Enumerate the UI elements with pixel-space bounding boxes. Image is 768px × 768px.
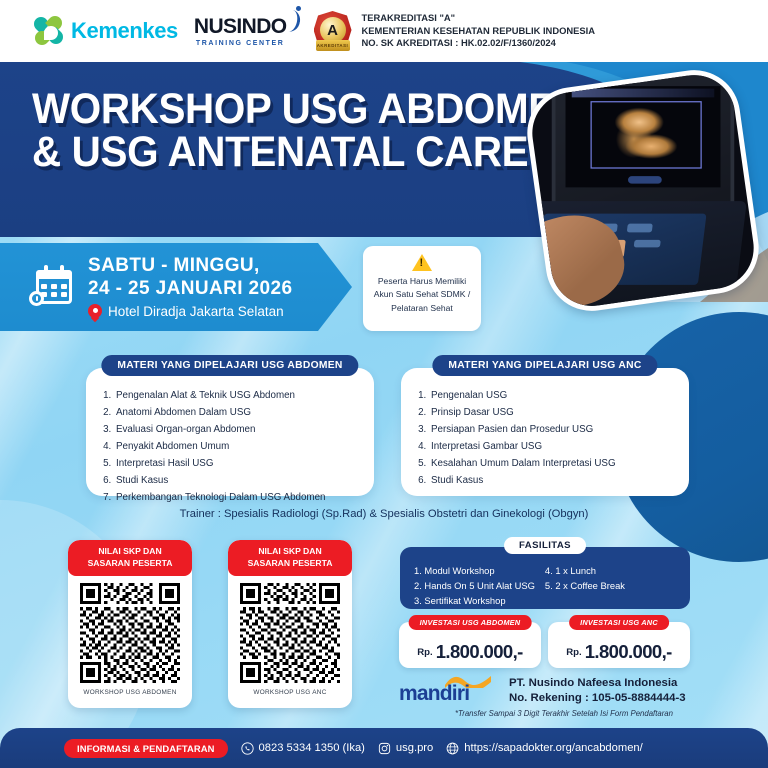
accreditation-block: A AKREDITASI TERAKREDITASI "A" KEMENTERI… <box>313 9 596 53</box>
price-card-anc: INVESTASI USG ANC Rp. 1.800.000,- <box>548 622 690 668</box>
list-item: 5. 2 x Coffee Break <box>545 578 625 593</box>
qr-caption-anc: WORKSHOP USG ANC <box>228 689 352 696</box>
facilities-box: FASILITAS 1. Modul Workshop 2. Hands On … <box>400 547 690 609</box>
nusindo-text: NUSINDO <box>194 15 287 38</box>
qr-head-line-1: NILAI SKP DAN <box>230 546 350 558</box>
materi-card-anc: MATERI YANG DIPELAJARI USG ANC Pengenala… <box>401 368 689 496</box>
accreditation-band-label: AKREDITASI <box>316 40 350 51</box>
akreditasi-line-2: KEMENTERIAN KESEHATAN REPUBLIK INDONESIA <box>362 25 596 38</box>
note-text: Peserta Harus Memiliki Akun Satu Sehat S… <box>363 275 481 315</box>
list-item: Pengenalan USG <box>429 388 677 405</box>
qr-caption-abdomen: WORKSHOP USG ABDOMEN <box>68 689 192 696</box>
bank-company: PT. Nusindo Nafeesa Indonesia <box>509 676 686 691</box>
qr-head-line-2: SASARAN PESERTA <box>70 558 190 570</box>
nusindo-dot-icon <box>296 6 301 11</box>
trainer-line: Trainer : Spesialis Radiologi (Sp.Rad) &… <box>0 508 768 520</box>
materi-card-abdomen: MATERI YANG DIPELAJARI USG ABDOMEN Penge… <box>86 368 374 496</box>
price-currency-abdomen: Rp. <box>417 647 432 658</box>
list-item: Studi Kasus <box>429 473 677 490</box>
list-item: Anatomi Abdomen Dalam USG <box>114 405 362 422</box>
nusindo-logo: NUSINDO TRAINING CENTER <box>194 16 287 47</box>
materi-list-anc: Pengenalan USG Prinsip Dasar USG Persiap… <box>401 388 689 490</box>
usg-monitor <box>551 72 735 212</box>
ultrasound-machine-photo <box>521 64 764 317</box>
qr-code-anc[interactable] <box>240 583 340 683</box>
bank-account: No. Rekening : 105-05-8884444-3 <box>509 691 686 706</box>
qr-code-abdomen[interactable] <box>80 583 180 683</box>
qr-card-anc[interactable]: NILAI SKP DAN SASARAN PESERTA <box>228 540 352 708</box>
info-pill-button[interactable]: INFORMASI & PENDAFTARAN <box>64 739 228 758</box>
contact-website[interactable]: https://sapadokter.org/ancabdomen/ <box>446 742 643 755</box>
venue-row: Hotel Diradja Jakarta Selatan <box>88 304 292 319</box>
map-pin-icon <box>88 304 102 318</box>
accreditation-text: TERAKREDITASI "A" KEMENTERIAN KESEHATAN … <box>362 12 596 50</box>
price-amount-anc: 1.800.000,- <box>585 641 672 663</box>
facilities-list-col2: 4. 1 x Lunch 5. 2 x Coffee Break <box>545 563 625 609</box>
contact-instagram-label: usg.pro <box>396 742 433 754</box>
nusindo-subtitle: TRAINING CENTER <box>196 40 285 47</box>
materi-badge-anc: MATERI YANG DIPELAJARI USG ANC <box>432 355 657 376</box>
poster-root: WORKSHOP USG ABDOMEN & USG ANTENATAL CAR… <box>0 0 768 768</box>
akreditasi-line-3: NO. SK AKREDITASI : HK.02.02/F/1360/2024 <box>362 37 596 50</box>
list-item: Pengenalan Alat & Teknik USG Abdomen <box>114 388 362 405</box>
materi-list-abdomen: Pengenalan Alat & Teknik USG Abdomen Ana… <box>86 388 374 507</box>
list-item: 2. Hands On 5 Unit Alat USG <box>414 578 535 593</box>
schedule-ribbon: SABTU - MINGGU, 24 - 25 JANUARI 2026 Hot… <box>0 243 352 331</box>
kemenkes-flower-icon <box>34 16 64 46</box>
participant-requirement-note: Peserta Harus Memiliki Akun Satu Sehat S… <box>363 246 481 331</box>
title-line-1: WORKSHOP USG ABDOMEN <box>32 88 584 131</box>
mandiri-wordmark: mandiri <box>399 682 469 706</box>
title-line-2: & USG ANTENATAL CARE <box>32 131 584 174</box>
qr-head-line-2: SASARAN PESERTA <box>230 558 350 570</box>
list-item: 1. Modul Workshop <box>414 563 535 578</box>
contact-website-label: https://sapadokter.org/ancabdomen/ <box>464 742 643 754</box>
whatsapp-icon <box>241 742 254 755</box>
facilities-badge: FASILITAS <box>504 537 586 554</box>
venue-label: Hotel Diradja Jakarta Selatan <box>108 304 284 319</box>
list-item: Perkembangan Teknologi Dalam USG Abdomen <box>114 490 362 507</box>
list-item: Interpretasi Hasil USG <box>114 456 362 473</box>
qr-head-anc: NILAI SKP DAN SASARAN PESERTA <box>228 540 352 576</box>
schedule-day: SABTU - MINGGU, <box>88 255 292 277</box>
list-item: Kesalahan Umum Dalam Interpretasi USG <box>429 456 677 473</box>
price-tag-anc: INVESTASI USG ANC <box>569 615 669 630</box>
instagram-icon <box>378 742 391 755</box>
list-item: Penyakit Abdomen Umum <box>114 439 362 456</box>
list-item: Studi Kasus <box>114 473 362 490</box>
contact-whatsapp[interactable]: 0823 5334 1350 (Ika) <box>241 742 365 755</box>
price-card-abdomen: INVESTASI USG ABDOMEN Rp. 1.800.000,- <box>399 622 541 668</box>
kemenkes-wordmark: Kemenkes <box>71 18 178 44</box>
bank-details: PT. Nusindo Nafeesa Indonesia No. Rekeni… <box>509 676 686 706</box>
kemenkes-logo: Kemenkes <box>34 16 178 46</box>
schedule-text: SABTU - MINGGU, 24 - 25 JANUARI 2026 Hot… <box>88 255 292 319</box>
warning-triangle-icon <box>412 254 432 271</box>
footer-contact-bar: INFORMASI & PENDAFTARAN 0823 5334 1350 (… <box>0 728 768 768</box>
bank-note: *Transfer Sampai 3 Digit Terakhir Setela… <box>399 709 729 718</box>
qr-head-line-1: NILAI SKP DAN <box>70 546 190 558</box>
page-title: WORKSHOP USG ABDOMEN & USG ANTENATAL CAR… <box>32 88 584 173</box>
list-item: 4. 1 x Lunch <box>545 563 625 578</box>
schedule-date: 24 - 25 JANUARI 2026 <box>88 278 292 300</box>
bank-transfer-block: mandiri PT. Nusindo Nafeesa Indonesia No… <box>399 676 729 718</box>
price-currency-anc: Rp. <box>566 647 581 658</box>
list-item: 3. Sertifikat Workshop <box>414 593 535 608</box>
mandiri-logo: mandiri <box>399 676 497 706</box>
calendar-clock-icon <box>28 264 74 310</box>
materi-badge-abdomen: MATERI YANG DIPELAJARI USG ABDOMEN <box>101 355 358 376</box>
contact-instagram[interactable]: usg.pro <box>378 742 433 755</box>
globe-icon <box>446 742 459 755</box>
price-amount-abdomen: 1.800.000,- <box>436 641 523 663</box>
logo-bar: Kemenkes NUSINDO TRAINING CENTER A AKRED… <box>0 0 768 62</box>
list-item: Prinsip Dasar USG <box>429 405 677 422</box>
fetus-scan-image <box>602 106 689 164</box>
list-item: Persiapan Pasien dan Prosedur USG <box>429 422 677 439</box>
nusindo-swish-icon <box>281 8 301 33</box>
nusindo-wordmark: NUSINDO <box>194 16 287 37</box>
qr-card-abdomen[interactable]: NILAI SKP DAN SASARAN PESERTA <box>68 540 192 708</box>
contact-phone-label: 0823 5334 1350 (Ika) <box>259 742 365 754</box>
accreditation-seal-icon: A AKREDITASI <box>313 9 353 53</box>
qr-head-abdomen: NILAI SKP DAN SASARAN PESERTA <box>68 540 192 576</box>
akreditasi-line-1: TERAKREDITASI "A" <box>362 12 596 25</box>
list-item: Evaluasi Organ-organ Abdomen <box>114 422 362 439</box>
list-item: Interpretasi Gambar USG <box>429 439 677 456</box>
facilities-list-col1: 1. Modul Workshop 2. Hands On 5 Unit Ala… <box>414 563 535 609</box>
price-tag-abdomen: INVESTASI USG ABDOMEN <box>409 615 532 630</box>
